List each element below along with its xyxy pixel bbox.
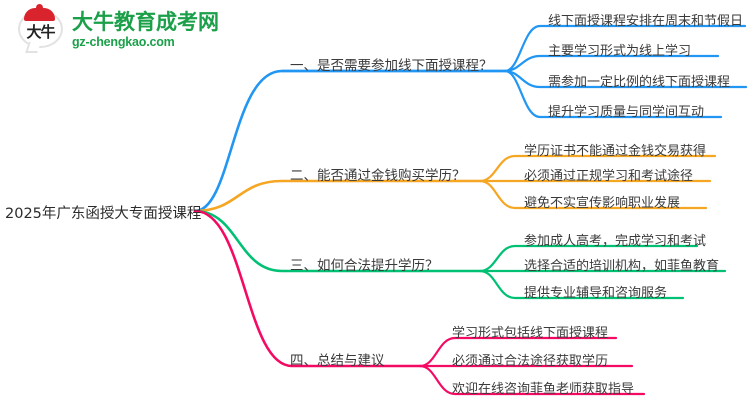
connector-root-branch4 xyxy=(195,211,420,366)
branch-node-3[interactable]: 三、如何合法提升学历？ xyxy=(290,254,439,274)
leaf-node-4-3[interactable]: 欢迎在线咨询菲鱼老师获取指导 xyxy=(452,378,634,397)
branch-node-1[interactable]: 一、是否需要参加线下面授课程？ xyxy=(290,54,493,74)
leaf-node-1-3[interactable]: 需参加一定比例的线下面授课程 xyxy=(548,71,730,90)
logo-mark-icon: 大牛 xyxy=(18,8,65,52)
leaf-node-4-1[interactable]: 学习形式包括线下面授课程 xyxy=(452,322,608,341)
logo-text-block: 大牛教育成考网 gz-chengkao.com xyxy=(72,12,219,49)
leaf-node-2-1[interactable]: 学历证书不能通过金钱交易获得 xyxy=(524,140,706,159)
mindmap-root-node[interactable]: 2025年广东函授大专面授课程 xyxy=(5,202,201,223)
leaf-node-2-3[interactable]: 避免不实宣传影响职业发展 xyxy=(524,192,680,211)
logo-subtitle: gz-chengkao.com xyxy=(72,36,219,49)
logo-title: 大牛教育成考网 xyxy=(72,12,219,33)
leaf-node-4-2[interactable]: 必须通过合法途径获取学历 xyxy=(452,350,608,369)
leaf-node-1-4[interactable]: 提升学习质量与同学间互动 xyxy=(548,101,704,120)
branch-node-2[interactable]: 二、能否通过金钱购买学历？ xyxy=(290,164,466,184)
leaf-node-2-2[interactable]: 必须通过正规学习和考试途径 xyxy=(524,165,693,184)
branch-node-4[interactable]: 四、总结与建议 xyxy=(290,349,385,369)
leaf-node-1-1[interactable]: 线下面授课程安排在周末和节假日 xyxy=(548,10,743,29)
connector-root-branch1 xyxy=(195,71,505,211)
mindmap-canvas: 大牛 大牛教育成考网 gz-chengkao.com 2025年广东函授大专面授… xyxy=(0,0,750,410)
site-logo[interactable]: 大牛 大牛教育成考网 gz-chengkao.com xyxy=(18,8,219,52)
logo-mark-text: 大牛 xyxy=(18,19,63,46)
leaf-node-3-1[interactable]: 参加成人高考，完成学习和考试 xyxy=(524,230,706,249)
connector-root-branch2 xyxy=(195,181,480,211)
leaf-node-1-2[interactable]: 主要学习形式为线上学习 xyxy=(548,40,691,59)
leaf-node-3-3[interactable]: 提供专业辅导和咨询服务 xyxy=(524,282,667,301)
leaf-node-3-2[interactable]: 选择合适的培训机构，如菲鱼教育 xyxy=(524,255,719,274)
